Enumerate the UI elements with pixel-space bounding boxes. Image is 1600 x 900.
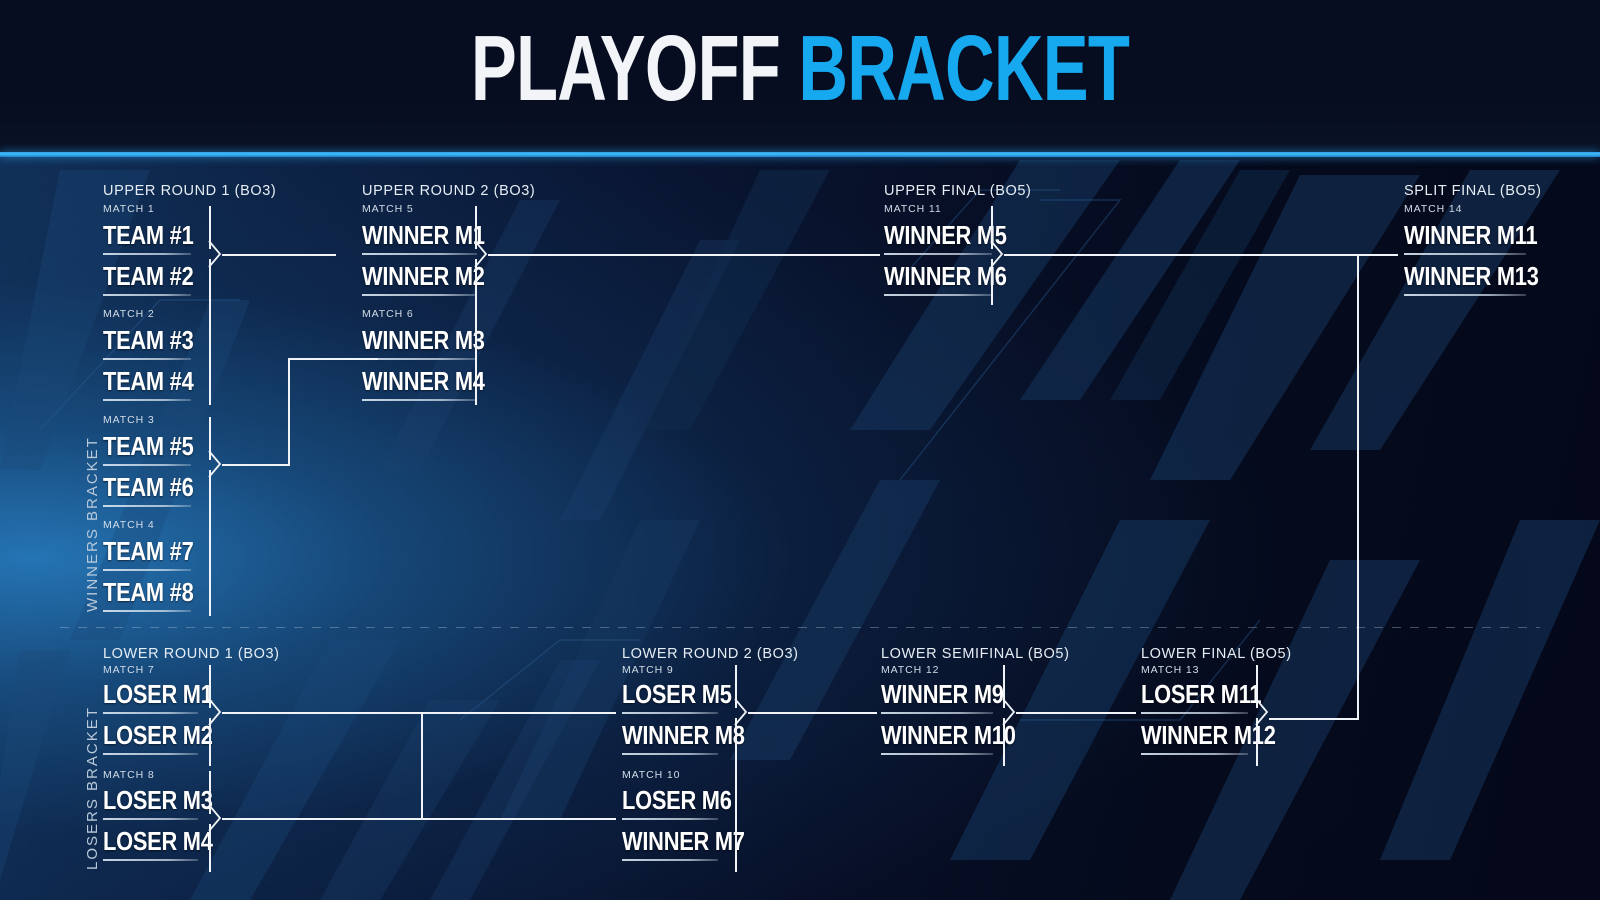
slot-m2-bottom[interactable]: TEAM #4 bbox=[103, 368, 191, 401]
match-label-m5: MATCH 5 bbox=[362, 203, 414, 215]
page-title: PLAYOFF BRACKET bbox=[160, 22, 1440, 115]
slot-underline bbox=[884, 253, 992, 255]
connector-m3m4-elbow-h2 bbox=[288, 358, 378, 360]
round-title-lower-semifinal: LOWER SEMIFINAL (BO5) bbox=[881, 646, 1070, 662]
match-label-m7: MATCH 7 bbox=[103, 664, 155, 676]
slot-name: LOSER M2 bbox=[103, 722, 183, 748]
connector-m3-m4-spine-bottom bbox=[209, 470, 211, 616]
slot-name: TEAM #2 bbox=[103, 263, 177, 289]
connector-chevron-m7 bbox=[205, 698, 223, 726]
connector-m3m4-elbow-h1 bbox=[222, 464, 290, 466]
slot-underline bbox=[362, 294, 477, 296]
slot-name: TEAM #5 bbox=[103, 433, 177, 459]
slot-m13-bottom[interactable]: WINNER M12 bbox=[1141, 722, 1248, 755]
slot-m1-bottom[interactable]: TEAM #2 bbox=[103, 263, 191, 296]
slot-m8-bottom[interactable]: LOSER M4 bbox=[103, 828, 198, 861]
slot-underline bbox=[103, 712, 198, 714]
connector-chevron-m11 bbox=[987, 240, 1005, 268]
slot-name: TEAM #3 bbox=[103, 327, 177, 353]
slot-underline bbox=[1404, 253, 1526, 255]
connector-m12-to-m13 bbox=[1016, 712, 1136, 714]
connector-lower-r1-crossbar bbox=[421, 712, 423, 820]
slot-name: LOSER M3 bbox=[103, 787, 183, 813]
title-bracket: BRACKET bbox=[798, 17, 1129, 121]
round-title-upper-round-1: UPPER ROUND 1 (BO3) bbox=[103, 183, 276, 199]
slot-name: WINNER M3 bbox=[362, 327, 459, 353]
slot-name: WINNER M9 bbox=[881, 681, 975, 707]
slot-m5-bottom[interactable]: WINNER M2 bbox=[362, 263, 477, 296]
match-label-m2: MATCH 2 bbox=[103, 308, 155, 320]
slot-name: WINNER M11 bbox=[1404, 222, 1506, 248]
connector-m13-to-trunk bbox=[1269, 718, 1359, 720]
slot-m7-top[interactable]: LOSER M1 bbox=[103, 681, 198, 714]
connector-chevron-m12 bbox=[999, 698, 1017, 726]
match-label-m3: MATCH 3 bbox=[103, 414, 155, 426]
connector-m1-m2-spine-bottom bbox=[209, 259, 211, 405]
slot-name: WINNER M13 bbox=[1404, 263, 1506, 289]
slot-underline bbox=[103, 859, 198, 861]
slot-name: WINNER M6 bbox=[884, 263, 975, 289]
match-label-m8: MATCH 8 bbox=[103, 769, 155, 781]
slot-underline bbox=[1141, 712, 1248, 714]
round-title-upper-final: UPPER FINAL (BO5) bbox=[884, 183, 1031, 199]
slot-underline bbox=[103, 399, 191, 401]
round-title-lower-round-1: LOWER ROUND 1 (BO3) bbox=[103, 646, 280, 662]
slot-name: LOSER M1 bbox=[103, 681, 183, 707]
connector-chevron-m13 bbox=[1252, 698, 1270, 726]
connector-chevron-m3m4 bbox=[205, 450, 223, 478]
slot-name: WINNER M10 bbox=[881, 722, 975, 748]
match-label-m1: MATCH 1 bbox=[103, 203, 155, 215]
slot-m12-bottom[interactable]: WINNER M10 bbox=[881, 722, 993, 755]
round-title-lower-round-2: LOWER ROUND 2 (BO3) bbox=[622, 646, 799, 662]
match-label-m11: MATCH 11 bbox=[884, 203, 942, 215]
match-label-m12: MATCH 12 bbox=[881, 664, 939, 676]
slot-name: WINNER M1 bbox=[362, 222, 459, 248]
connector-chevron-m9m10 bbox=[731, 698, 749, 726]
slot-underline bbox=[622, 859, 718, 861]
slot-name: TEAM #4 bbox=[103, 368, 177, 394]
connector-m8-to-m10 bbox=[222, 818, 616, 820]
round-title-lower-final: LOWER FINAL (BO5) bbox=[1141, 646, 1292, 662]
slot-m6-top[interactable]: WINNER M3 bbox=[362, 327, 477, 360]
slot-m10-bottom[interactable]: WINNER M7 bbox=[622, 828, 718, 861]
header-accent-rule bbox=[0, 152, 1600, 157]
slot-name: TEAM #7 bbox=[103, 538, 177, 564]
slot-m14-bottom[interactable]: WINNER M13 bbox=[1404, 263, 1526, 296]
slot-m8-top[interactable]: LOSER M3 bbox=[103, 787, 198, 820]
connector-m9m10-to-m12 bbox=[748, 712, 877, 714]
bracket-divider bbox=[60, 627, 1540, 628]
title-playoff: PLAYOFF bbox=[471, 17, 780, 121]
slot-name: WINNER M7 bbox=[622, 828, 703, 854]
round-title-split-final: SPLIT FINAL (BO5) bbox=[1404, 183, 1542, 199]
slot-underline bbox=[103, 753, 198, 755]
match-label-m10: MATCH 10 bbox=[622, 769, 680, 781]
slot-m3-top[interactable]: TEAM #5 bbox=[103, 433, 191, 466]
slot-underline bbox=[622, 818, 718, 820]
slot-name: WINNER M8 bbox=[622, 722, 703, 748]
side-label-losers-bracket: LOSERS BRACKET bbox=[84, 706, 101, 870]
connector-m11-to-split-final bbox=[1004, 254, 1398, 256]
slot-underline bbox=[881, 712, 993, 714]
slot-m7-bottom[interactable]: LOSER M2 bbox=[103, 722, 198, 755]
side-label-winners-bracket: WINNERS BRACKET bbox=[84, 436, 101, 612]
connector-m9-m10-spine-bottom bbox=[735, 718, 737, 872]
slot-underline bbox=[622, 712, 718, 714]
round-title-upper-round-2: UPPER ROUND 2 (BO3) bbox=[362, 183, 535, 199]
connector-chevron-m5m6 bbox=[471, 240, 489, 268]
slot-name: TEAM #8 bbox=[103, 579, 177, 605]
slot-m4-top[interactable]: TEAM #7 bbox=[103, 538, 191, 571]
slot-m14-top[interactable]: WINNER M11 bbox=[1404, 222, 1526, 255]
slot-name: TEAM #1 bbox=[103, 222, 177, 248]
slot-underline bbox=[622, 753, 718, 755]
slot-name: LOSER M4 bbox=[103, 828, 183, 854]
slot-underline bbox=[103, 294, 191, 296]
match-label-m14: MATCH 14 bbox=[1404, 203, 1462, 215]
slot-name: WINNER M5 bbox=[884, 222, 975, 248]
slot-underline bbox=[362, 358, 477, 360]
slot-underline bbox=[1141, 753, 1248, 755]
slot-m13-top[interactable]: LOSER M11 bbox=[1141, 681, 1248, 714]
slot-m5-top[interactable]: WINNER M1 bbox=[362, 222, 477, 255]
slot-underline bbox=[103, 358, 191, 360]
slot-underline bbox=[103, 610, 191, 612]
slot-m1-top[interactable]: TEAM #1 bbox=[103, 222, 191, 255]
connector-chevron-m8 bbox=[205, 804, 223, 832]
slot-name: TEAM #6 bbox=[103, 474, 177, 500]
match-label-m6: MATCH 6 bbox=[362, 308, 414, 320]
connector-m1m2-to-m5 bbox=[222, 254, 336, 256]
slot-underline bbox=[362, 253, 477, 255]
slot-name: LOSER M11 bbox=[1141, 681, 1231, 707]
match-label-m4: MATCH 4 bbox=[103, 519, 155, 531]
slot-m4-bottom[interactable]: TEAM #8 bbox=[103, 579, 191, 612]
slot-name: WINNER M2 bbox=[362, 263, 459, 289]
slot-m12-top[interactable]: WINNER M9 bbox=[881, 681, 993, 714]
slot-m6-bottom[interactable]: WINNER M4 bbox=[362, 368, 477, 401]
slot-underline bbox=[103, 818, 198, 820]
slot-name: LOSER M6 bbox=[622, 787, 703, 813]
slot-underline bbox=[1404, 294, 1526, 296]
header-band: PLAYOFF BRACKET bbox=[0, 0, 1600, 156]
connector-m5-m6-spine-bottom bbox=[475, 259, 477, 405]
slot-m3-bottom[interactable]: TEAM #6 bbox=[103, 474, 191, 507]
slot-name: LOSER M5 bbox=[622, 681, 703, 707]
connector-m7-to-m9 bbox=[222, 712, 616, 714]
slot-underline bbox=[103, 253, 191, 255]
slot-name: WINNER M12 bbox=[1141, 722, 1231, 748]
slot-m11-top[interactable]: WINNER M5 bbox=[884, 222, 992, 255]
slot-m11-bottom[interactable]: WINNER M6 bbox=[884, 263, 992, 296]
bracket-stage: PLAYOFF BRACKET WINNERS BRACKET LOSERS B… bbox=[0, 0, 1600, 900]
slot-m2-top[interactable]: TEAM #3 bbox=[103, 327, 191, 360]
slot-underline bbox=[103, 505, 191, 507]
slot-underline bbox=[881, 753, 993, 755]
connector-chevron-m1m2 bbox=[205, 240, 223, 268]
slot-m9-top[interactable]: LOSER M5 bbox=[622, 681, 718, 714]
slot-underline bbox=[884, 294, 992, 296]
connector-m5m6-to-m11 bbox=[488, 254, 880, 256]
slot-m10-top[interactable]: LOSER M6 bbox=[622, 787, 718, 820]
slot-name: WINNER M4 bbox=[362, 368, 459, 394]
slot-underline bbox=[362, 399, 477, 401]
match-label-m13: MATCH 13 bbox=[1141, 664, 1199, 676]
connector-m3m4-elbow-v bbox=[288, 358, 290, 466]
slot-underline bbox=[103, 569, 191, 571]
slot-m9-bottom[interactable]: WINNER M8 bbox=[622, 722, 718, 755]
match-label-m9: MATCH 9 bbox=[622, 664, 674, 676]
connector-trunk-upper-to-lower bbox=[1357, 254, 1359, 718]
slot-underline bbox=[103, 464, 191, 466]
